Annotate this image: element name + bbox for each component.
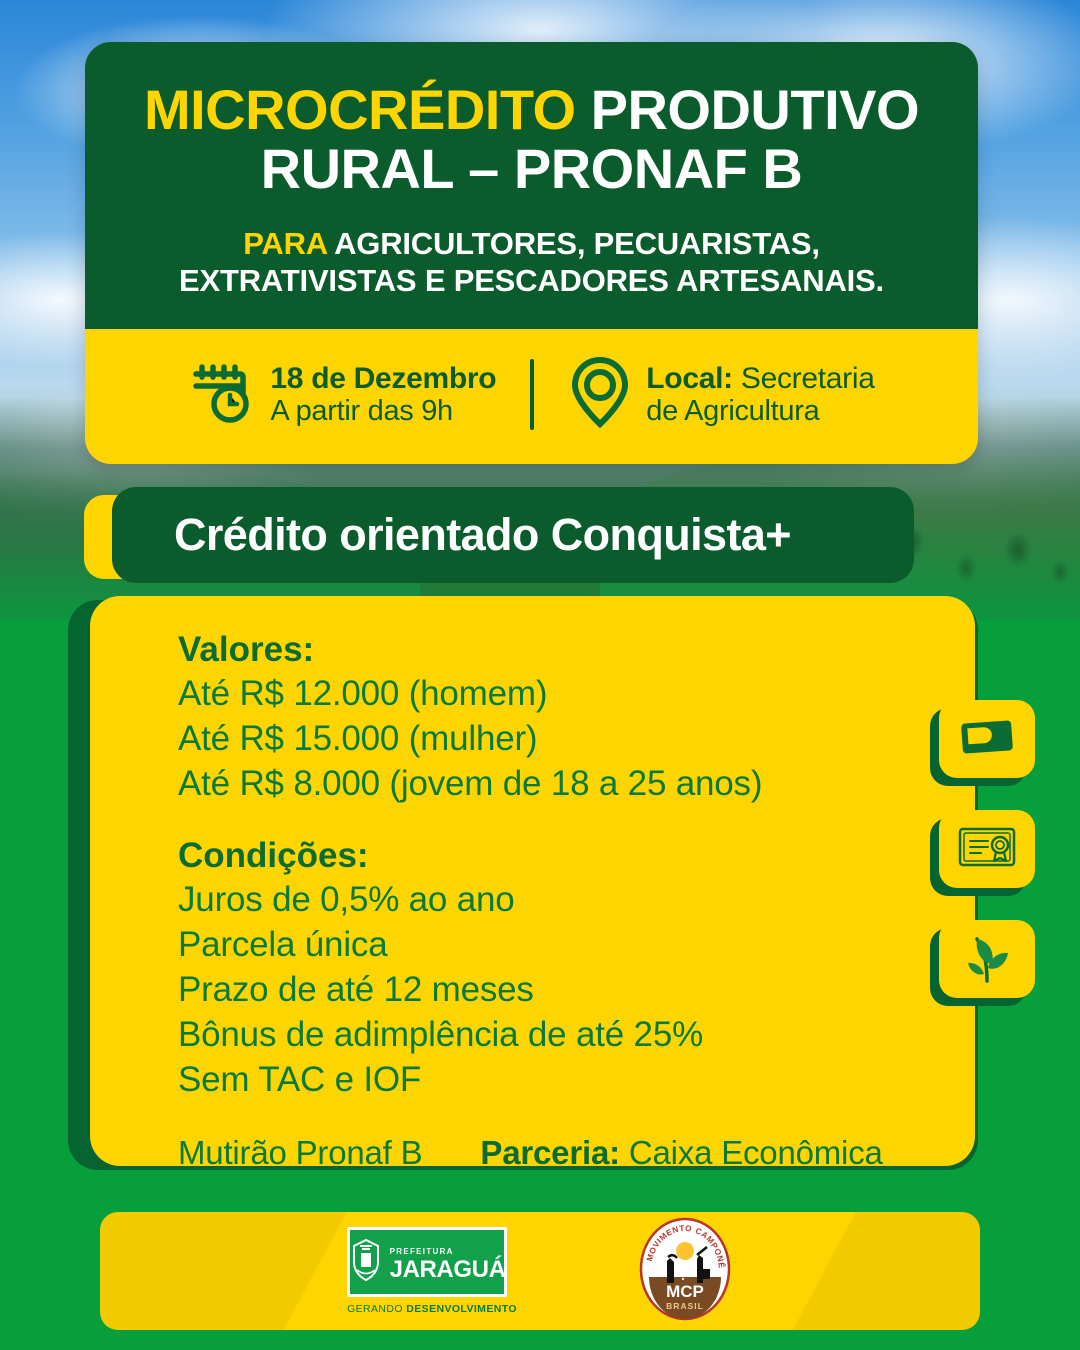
place-label: Local: xyxy=(646,362,733,395)
place-text: Local: Secretaria de Agricultura xyxy=(646,362,874,428)
footer-logos-card: PREFEITURA JARAGUÁ GERANDO DESENVOLVIMEN… xyxy=(100,1212,980,1330)
conditions-line: Juros de 0,5% ao ano xyxy=(178,878,935,923)
tagline-part2: DESENVOLVIMENTO xyxy=(406,1303,517,1315)
title-line2: RURAL – PRONAF B xyxy=(261,137,803,200)
values-heading: Valores: xyxy=(178,630,935,670)
mcp-acronym: MCP xyxy=(666,1282,704,1301)
hero-card: MICROCRÉDITO PRODUTIVO RURAL – PRONAF B … xyxy=(85,42,978,464)
subtitle-highlight: PARA xyxy=(243,226,327,261)
conditions-heading: Condições: xyxy=(178,836,935,876)
credit-banner: Crédito orientado Conquista+ xyxy=(84,487,914,585)
conditions-line: Parcela única xyxy=(178,923,935,968)
conditions-line: Sem TAC e IOF xyxy=(178,1058,935,1103)
conditions-line: Prazo de até 12 meses xyxy=(178,968,935,1013)
place-line2: de Agricultura xyxy=(646,395,874,427)
date-line2: A partir das 9h xyxy=(270,395,496,427)
coat-of-arms-icon xyxy=(349,1237,383,1288)
prefeitura-box: PREFEITURA JARAGUÁ xyxy=(347,1227,507,1297)
banner-text: Crédito orientado Conquista+ xyxy=(174,509,791,561)
page-title: MICROCRÉDITO PRODUTIVO RURAL – PRONAF B xyxy=(125,80,938,199)
wallet-money-icon xyxy=(958,715,1016,764)
subtitle-line2: EXTRATIVISTAS E PESCADORES ARTESANAIS. xyxy=(179,263,884,298)
banner-body: Crédito orientado Conquista+ xyxy=(112,487,914,583)
mcp-country: BRASIL xyxy=(666,1301,704,1311)
tile-body xyxy=(939,810,1035,888)
partner-label: Parceria: xyxy=(480,1134,619,1171)
title-rest: PRODUTIVO xyxy=(591,78,919,141)
section-gap xyxy=(178,806,935,836)
tagline-part1: GERANDO xyxy=(347,1303,406,1315)
prefeitura-logo: PREFEITURA JARAGUÁ GERANDO DESENVOLVIMEN… xyxy=(347,1227,517,1315)
prefeitura-tagline: GERANDO DESENVOLVIMENTO xyxy=(347,1303,517,1315)
place-info: Local: Secretaria de Agricultura xyxy=(534,355,874,434)
calendar-clock-icon xyxy=(188,359,254,430)
prefeitura-big-text: JARAGUÁ xyxy=(390,1256,506,1283)
subtitle-rest: AGRICULTORES, PECUARISTAS, xyxy=(334,226,820,261)
tile-wallet xyxy=(930,700,1034,786)
tile-plant xyxy=(930,920,1034,1006)
conditions-line: Bônus de adimplência de até 25% xyxy=(178,1013,935,1058)
title-highlight: MICROCRÉDITO xyxy=(144,78,576,141)
hero-header: MICROCRÉDITO PRODUTIVO RURAL – PRONAF B … xyxy=(85,42,978,329)
date-info: 18 de Dezembro A partir das 9h xyxy=(188,359,530,430)
partner-value: Caixa Econômica xyxy=(629,1134,883,1171)
mutirao-text: Mutirão Pronaf B xyxy=(178,1134,422,1172)
mcp-seal-icon: MCP BRASIL MOVIMENTO CAMPONÊS POPULAR xyxy=(637,1308,733,1325)
tile-body xyxy=(939,700,1035,778)
prefeitura-wordmark: PREFEITURA JARAGUÁ xyxy=(390,1242,506,1282)
tile-body xyxy=(939,920,1035,998)
prefeitura-small-text: PREFEITURA xyxy=(390,1247,454,1256)
info-band: 18 de Dezembro A partir das 9h Local: Se… xyxy=(85,329,978,464)
tile-certificate xyxy=(930,810,1034,896)
certificate-ribbon-icon xyxy=(957,825,1017,874)
card-footer-row: Mutirão Pronaf B Parceria: Caixa Econômi… xyxy=(178,1134,935,1172)
plant-sprout-icon xyxy=(962,931,1012,988)
values-line: Até R$ 12.000 (homem) xyxy=(178,672,935,717)
values-line: Até R$ 8.000 (jovem de 18 a 25 anos) xyxy=(178,762,935,807)
page-subtitle: PARA AGRICULTORES, PECUARISTAS, EXTRATIV… xyxy=(125,225,938,299)
icon-tiles xyxy=(930,700,1040,1030)
place-value: Secretaria xyxy=(741,362,875,395)
date-text: 18 de Dezembro A partir das 9h xyxy=(270,362,496,428)
date-line1: 18 de Dezembro xyxy=(270,362,496,396)
mcp-logo: MCP BRASIL MOVIMENTO CAMPONÊS POPULAR xyxy=(637,1217,733,1326)
values-line: Até R$ 15.000 (mulher) xyxy=(178,717,935,762)
place-line1: Local: Secretaria xyxy=(646,362,874,396)
main-content-card: Valores: Até R$ 12.000 (homem) Até R$ 15… xyxy=(90,596,975,1166)
map-pin-icon xyxy=(570,355,630,434)
partner-block: Parceria: Caixa Econômica xyxy=(480,1134,882,1172)
